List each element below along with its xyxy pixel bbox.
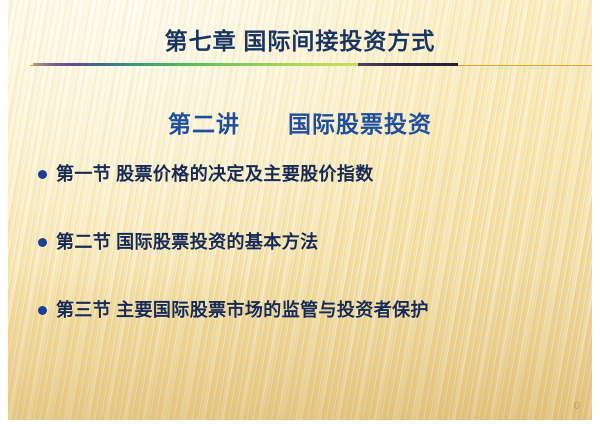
slide-canvas: 第七章 国际间接投资方式 第二讲 国际股票投资 第一节 股票价格的决定及主要股价…	[0, 0, 600, 424]
list-item[interactable]: 第二节 国际股票投资的基本方法	[34, 228, 582, 296]
list-item-label: 第二节 国际股票投资的基本方法	[56, 228, 582, 256]
page-number: 0	[574, 400, 580, 412]
title-divider	[8, 62, 592, 70]
bullet-list: 第一节 股票价格的决定及主要股价指数 第二节 国际股票投资的基本方法 第三节 主…	[34, 160, 582, 364]
title-divider-dark-bar	[358, 63, 458, 66]
slide-content: 第七章 国际间接投资方式 第二讲 国际股票投资 第一节 股票价格的决定及主要股价…	[8, 0, 592, 420]
slide-background: 第七章 国际间接投资方式 第二讲 国际股票投资 第一节 股票价格的决定及主要股价…	[8, 0, 592, 420]
chapter-title: 第七章 国际间接投资方式	[8, 22, 592, 56]
list-item[interactable]: 第一节 股票价格的决定及主要股价指数	[34, 160, 582, 228]
bullet-dot-icon	[38, 170, 47, 179]
bullet-dot-icon	[38, 238, 47, 247]
list-item[interactable]: 第三节 主要国际股票市场的监管与投资者保护	[34, 296, 582, 364]
list-item-label: 第三节 主要国际股票市场的监管与投资者保护	[56, 296, 582, 324]
bullet-dot-icon	[38, 306, 47, 315]
title-divider-gradient-bar	[33, 63, 358, 66]
section-title: 第二讲 国际股票投资	[8, 105, 592, 139]
list-item-label: 第一节 股票价格的决定及主要股价指数	[56, 160, 582, 188]
